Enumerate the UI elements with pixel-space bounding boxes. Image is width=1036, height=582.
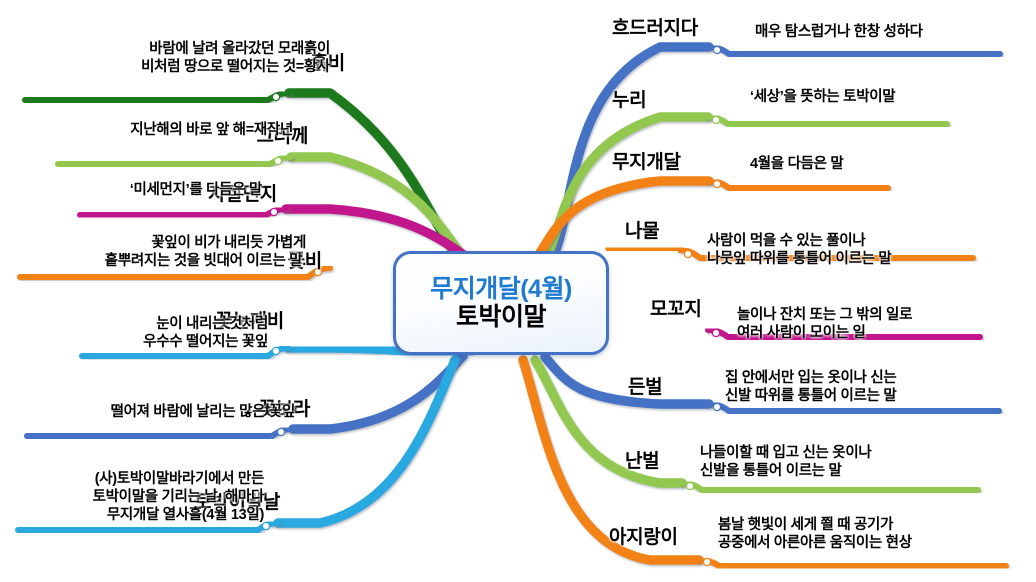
branch-description-left-5: 떨어져 바람에 날리는 많은 꽃잎 [111, 404, 295, 421]
branch-keyword-right-4: 모꼬지 [650, 299, 702, 321]
branch-junction-dot-left-0[interactable] [272, 93, 279, 100]
branch-description-left-4: 눈이 내리는 것처럼우수수 떨어지는 꽃잎 [143, 315, 268, 351]
branch-description-right-1: ‘세상’을 뜻하는 토박이말 [750, 89, 895, 106]
branch-description-right-4: 놀이나 잔치 또는 그 밖의 일로여러 사람이 모이는 일 [737, 306, 912, 342]
branch-description-right-2: 4월을 다듬은 말 [750, 156, 843, 173]
branch-keyword-right-5: 든벌 [628, 377, 662, 399]
branch-junction-dot-right-4[interactable] [712, 329, 719, 336]
branch-junction-dot-right-7[interactable] [703, 558, 710, 565]
branch-trunk-right-5[interactable] [545, 357, 709, 404]
branch-description-right-7: 봄날 햇빛이 세게 쬘 때 공기가공중에서 아른아른 움직이는 현상 [718, 516, 912, 552]
branch-junction-dot-right-2[interactable] [713, 180, 720, 187]
branch-description-right-5: 집 안에서만 입는 옷이나 신는신발 따위를 통틀어 이르는 말 [725, 369, 896, 405]
branch-keyword-right-1: 누리 [612, 90, 646, 112]
branch-description-right-3: 사람이 먹을 수 있는 풀이나나뭇잎 따위를 통틀어 이르는 말 [707, 232, 891, 268]
branch-description-left-0: 바람에 날려 올라갔던 모래흙이비처럼 땅으로 떨어지는 것=황사 [141, 40, 330, 76]
branch-description-right-6: 나들이할 때 입고 신는 옷이나신발을 통틀어 이르는 말 [700, 444, 871, 480]
branch-junction-dot-right-6[interactable] [686, 482, 693, 489]
branch-tail-right-6[interactable] [682, 483, 978, 490]
branch-junction-dot-right-3[interactable] [684, 250, 691, 257]
branch-tail-left-1[interactable] [58, 157, 291, 164]
center-node-title-secondary: 토박이말 [456, 303, 546, 332]
branch-tail-right-7[interactable] [699, 560, 1006, 566]
branch-description-left-2: ‘미세먼지’를 다듬은 말 [130, 182, 262, 199]
branch-junction-dot-left-4[interactable] [272, 347, 279, 354]
branch-keyword-right-0: 흐드러지다 [612, 18, 698, 40]
branch-tail-left-0[interactable] [25, 93, 289, 100]
branch-trunk-right-3[interactable] [610, 248, 680, 250]
branch-description-left-1: 지난해의 바로 앞 해=재작년 [130, 122, 293, 139]
branch-keyword-right-6: 난벌 [625, 451, 659, 473]
branch-tail-left-2[interactable] [80, 209, 286, 215]
branch-junction-dot-left-2[interactable] [270, 208, 277, 215]
branch-keyword-right-2: 무지개달 [612, 152, 681, 174]
branch-junction-dot-right-0[interactable] [713, 46, 720, 53]
center-node[interactable]: 무지개달(4월) 토박이말 [393, 251, 609, 355]
center-node-title-primary: 무지개달(4월) [430, 275, 572, 303]
branch-junction-dot-left-1[interactable] [274, 157, 281, 164]
branch-junction-dot-right-5[interactable] [713, 403, 720, 410]
branch-tail-right-2[interactable] [709, 181, 888, 188]
branch-keyword-right-7: 아지랑이 [609, 527, 678, 549]
branch-tail-left-5[interactable] [27, 429, 293, 436]
mindmap-canvas: 무지개달(4월) 토박이말 흙비바람에 날려 올라갔던 모래흙이비처럼 땅으로 … [0, 0, 1036, 582]
branch-tail-right-1[interactable] [708, 117, 947, 124]
branch-description-right-0: 매우 탐스럽거나 한창 성하다 [755, 24, 923, 41]
branch-keyword-right-3: 나물 [625, 221, 659, 243]
branch-tail-right-0[interactable] [709, 47, 1000, 54]
branch-junction-dot-left-5[interactable] [277, 428, 284, 435]
branch-description-left-6: (사)토박이말바라기에서 만든토박이말을 기리는 날. 해마다무지개달 열사흘(… [93, 470, 264, 524]
branch-description-left-3: 꽃잎이 비가 내리듯 가볍게흩뿌려지는 것을 빗대어 이르는 말. [105, 234, 306, 270]
branch-junction-dot-right-1[interactable] [712, 116, 719, 123]
